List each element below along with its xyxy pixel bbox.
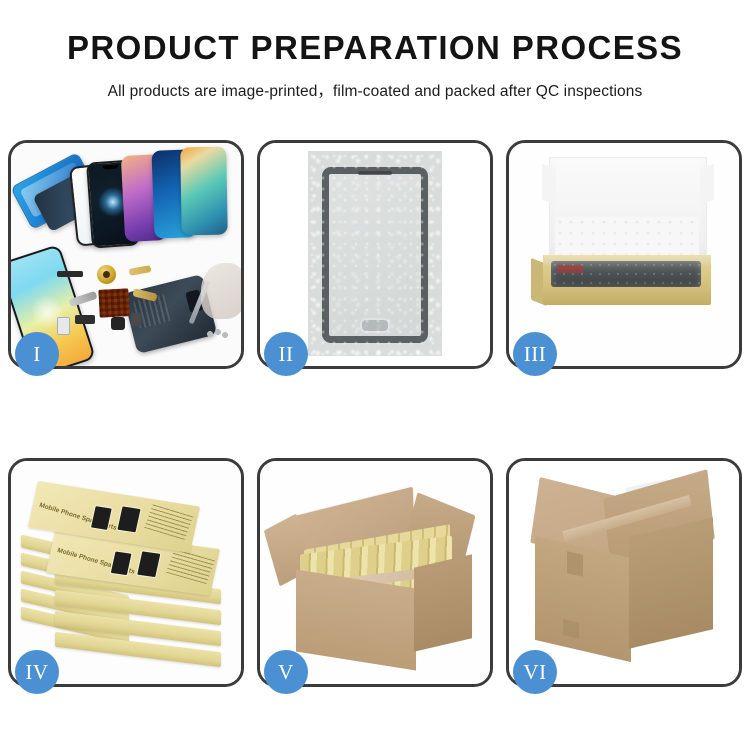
carton-handle-tab-lower	[563, 619, 579, 639]
box-lid-screen-2-icon	[116, 505, 142, 533]
camera-module-icon	[111, 317, 125, 330]
step-3-image	[509, 143, 739, 366]
step-4-image: Mobile Phone Spare Parts Mobile Phone Sp…	[11, 461, 241, 684]
process-step-panel-6[interactable]: VI	[506, 458, 742, 687]
step-badge-3: III	[513, 332, 557, 376]
flex-cable-2-icon	[129, 265, 152, 276]
process-step-panel-1[interactable]: I	[8, 140, 244, 369]
box-lid-speclines-1	[144, 503, 193, 540]
process-step-panel-3[interactable]: III	[506, 140, 742, 369]
packed-screen	[551, 261, 701, 287]
carton-side-face	[414, 554, 472, 651]
process-steps-grid: I II III	[8, 140, 742, 687]
step-badge-4: IV	[15, 650, 59, 694]
page-subtitle: All products are image-printed，film-coat…	[0, 79, 750, 101]
screws-icon	[207, 329, 229, 339]
process-step-panel-5[interactable]: V	[257, 458, 493, 687]
process-step-panel-4[interactable]: Mobile Phone Spare Parts Mobile Phone Sp…	[8, 458, 244, 687]
step-badge-1: I	[15, 332, 59, 376]
step-5-image	[260, 461, 490, 684]
step-badge-5: V	[264, 650, 308, 694]
hand-icon	[201, 263, 241, 319]
bubble-wrap-sheet	[308, 151, 442, 356]
page-header: PRODUCT PREPARATION PROCESS All products…	[0, 0, 750, 101]
process-step-panel-2[interactable]: II	[257, 140, 493, 369]
flex-cable-1-icon	[57, 271, 83, 277]
page-title: PRODUCT PREPARATION PROCESS	[0, 30, 750, 66]
screw-mat-icon	[98, 288, 129, 318]
phone-teal-icon	[180, 147, 228, 236]
step-badge-6: VI	[513, 650, 557, 694]
step-badge-2: II	[264, 332, 308, 376]
sealed-carton-side-face	[629, 517, 713, 648]
sim-tray-icon	[57, 317, 70, 335]
wrapped-phone-screen	[322, 167, 428, 343]
step-6-image	[509, 461, 739, 684]
vibrator-motor-icon	[131, 313, 141, 326]
box-lid-speclines-2	[166, 548, 215, 584]
speaker-coil-icon	[97, 265, 116, 284]
battery-connector-icon	[75, 315, 95, 324]
carton-handle-tab-upper	[567, 551, 583, 577]
step-2-image	[260, 143, 490, 366]
box-stack: Mobile Phone Spare Parts Mobile Phone Sp…	[19, 483, 239, 671]
box-lid-screen-4-icon	[136, 550, 162, 578]
sealed-carton-front-face	[535, 536, 631, 662]
screen-label-icon	[557, 265, 583, 273]
step-1-image	[11, 143, 241, 366]
home-button-icon	[360, 318, 390, 333]
